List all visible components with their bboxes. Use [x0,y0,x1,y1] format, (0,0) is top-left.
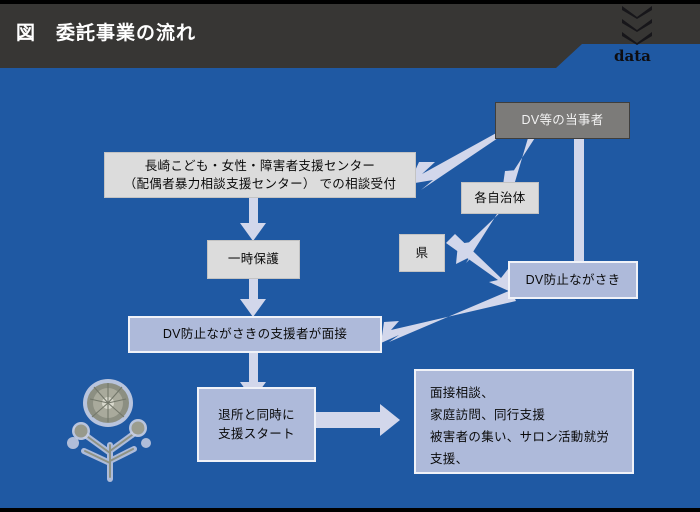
node-temp-shelter[interactable]: 一時保護 [207,240,300,279]
diagram-area: DV等の当事者 長崎こども・女性・障害者支援センター （配偶者暴力相談支援センタ… [0,74,700,508]
chevron-stack [620,5,654,45]
edge-temp-shelter-to-interview [240,278,266,317]
node-dv-nagasaki[interactable]: DV防止ながさき [508,261,638,299]
chevron-down-icon [620,31,654,45]
page-title: 図 委託事業の流れ [16,18,196,45]
node-interview[interactable]: DV防止ながさきの支援者が面接 [128,316,382,353]
node-support-start[interactable]: 退所と同時に 支援スタート [197,387,316,462]
edge-support-center-to-temp-shelter [240,198,266,241]
edge-prefecture-to-dv-nagasaki [446,234,513,293]
node-dv-party[interactable]: DV等の当事者 [495,102,630,139]
edge-dv-party-to-support-center [409,126,509,190]
node-municipality[interactable]: 各自治体 [461,182,539,214]
edge-dv-nagasaki-to-interview [381,290,516,343]
slide-canvas: 図 委託事業の流れ data [0,0,700,512]
chevron-down-icon [620,18,654,32]
node-support-center[interactable]: 長崎こども・女性・障害者支援センター （配偶者暴力相談支援センター） での相談受… [104,152,416,198]
flower-graphic [58,371,162,483]
chevron-down-icon [620,5,654,19]
edge-support-start-to-services [316,404,400,436]
node-services[interactable]: 面接相談、 家庭訪問、同行支援 被害者の集い、サロン活動就労 支援、 [414,369,634,474]
node-prefecture[interactable]: 県 [399,234,445,272]
bottom-border [0,508,700,512]
top-border [0,0,700,4]
data-label: data [614,47,651,65]
